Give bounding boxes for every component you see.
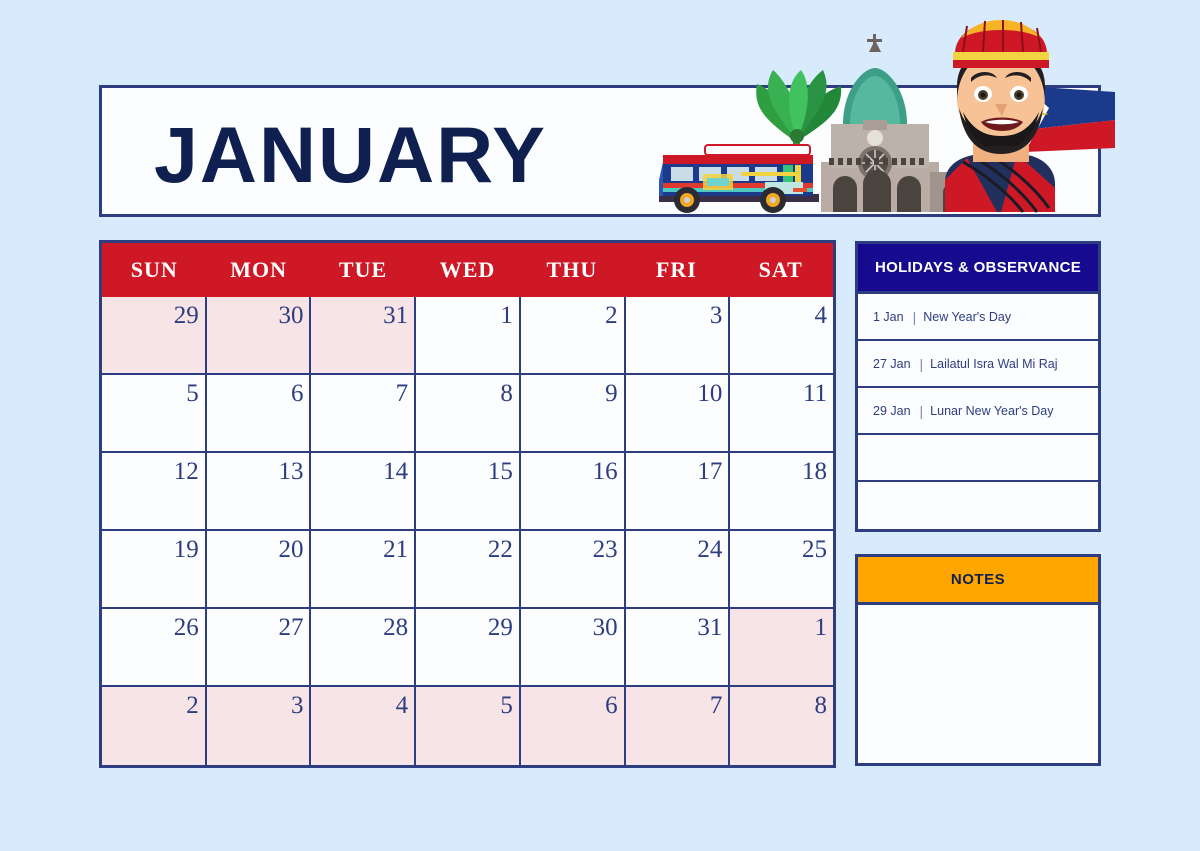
page-title: JANUARY [154,110,547,200]
notes-panel-header: NOTES [855,554,1101,605]
day-cell[interactable]: 16 [521,453,626,531]
day-cell[interactable]: 31 [626,609,731,687]
day-cell[interactable]: 18 [730,453,833,531]
day-number: 20 [278,535,303,565]
day-cell[interactable]: 23 [521,531,626,609]
day-cell[interactable]: 8 [730,687,833,765]
day-number: 15 [488,457,513,487]
day-number: 22 [488,535,513,565]
day-number: 24 [697,535,722,565]
day-number: 30 [278,301,303,331]
day-cell[interactable]: 15 [416,453,521,531]
day-cell[interactable]: 12 [102,453,207,531]
day-number: 7 [396,379,409,409]
day-cell[interactable]: 2 [521,297,626,375]
holiday-row-empty[interactable]: | [858,435,1098,482]
day-cell[interactable]: 7 [311,375,416,453]
day-number: 19 [174,535,199,565]
calendar-week-row: 2345678 [102,687,833,765]
day-cell[interactable]: 14 [311,453,416,531]
day-number: 29 [174,301,199,331]
calendar-week-row: 2930311234 [102,297,833,375]
weekday-tue: TUE [311,243,415,297]
day-number: 11 [803,379,827,409]
day-cell[interactable]: 6 [207,375,312,453]
day-number: 1 [815,613,828,643]
calendar-week-row: 2627282930311 [102,609,833,687]
day-number: 26 [174,613,199,643]
day-number: 6 [605,691,618,721]
day-number: 2 [605,301,618,331]
calendar-week-row: 19202122232425 [102,531,833,609]
notes-input-area[interactable] [855,605,1101,766]
day-number: 4 [396,691,409,721]
weekday-wed: WED [415,243,519,297]
day-cell[interactable]: 26 [102,609,207,687]
day-number: 6 [291,379,304,409]
day-cell[interactable]: 1 [416,297,521,375]
day-number: 21 [383,535,408,565]
day-cell[interactable]: 24 [626,531,731,609]
day-cell[interactable]: 13 [207,453,312,531]
day-cell[interactable]: 6 [521,687,626,765]
weekday-fri: FRI [624,243,728,297]
holiday-row[interactable]: 1 Jan|New Year's Day [858,294,1098,341]
day-number: 23 [593,535,618,565]
day-number: 25 [802,535,827,565]
day-cell[interactable]: 10 [626,375,731,453]
day-cell[interactable]: 21 [311,531,416,609]
day-number: 28 [383,613,408,643]
day-number: 9 [605,379,618,409]
holiday-row[interactable]: 29 Jan|Lunar New Year's Day [858,388,1098,435]
day-number: 29 [488,613,513,643]
day-number: 31 [697,613,722,643]
day-number: 10 [697,379,722,409]
day-cell[interactable]: 17 [626,453,731,531]
day-cell[interactable]: 25 [730,531,833,609]
holiday-separator: | [920,403,924,419]
day-cell[interactable]: 3 [626,297,731,375]
day-number: 12 [174,457,199,487]
holidays-panel: HOLIDAYS & OBSERVANCE 1 Jan|New Year's D… [855,241,1101,532]
day-cell[interactable]: 4 [730,297,833,375]
calendar-week-row: 12131415161718 [102,453,833,531]
holiday-name: New Year's Day [923,310,1011,324]
day-number: 3 [710,301,723,331]
holiday-row-empty[interactable]: | [858,482,1098,529]
day-cell[interactable]: 2 [102,687,207,765]
holiday-separator: | [913,309,917,325]
holiday-name: Lunar New Year's Day [930,404,1053,418]
weekday-sat: SAT [729,243,833,297]
day-cell[interactable]: 3 [207,687,312,765]
day-number: 3 [291,691,304,721]
weekday-thu: THU [520,243,624,297]
holiday-row[interactable]: 27 Jan|Lailatul Isra Wal Mi Raj [858,341,1098,388]
day-cell[interactable]: 29 [416,609,521,687]
day-cell[interactable]: 5 [102,375,207,453]
day-number: 18 [802,457,827,487]
day-number: 31 [383,301,408,331]
day-cell[interactable]: 8 [416,375,521,453]
holidays-panel-header: HOLIDAYS & OBSERVANCE [855,241,1101,294]
day-cell[interactable]: 4 [311,687,416,765]
day-cell[interactable]: 31 [311,297,416,375]
holiday-date: 29 Jan [873,404,911,418]
calendar-week-row: 567891011 [102,375,833,453]
day-cell[interactable]: 1 [730,609,833,687]
day-number: 2 [186,691,199,721]
day-cell[interactable]: 7 [626,687,731,765]
day-number: 27 [278,613,303,643]
day-cell[interactable]: 30 [521,609,626,687]
holidays-list: 1 Jan|New Year's Day27 Jan|Lailatul Isra… [855,294,1101,532]
day-cell[interactable]: 19 [102,531,207,609]
day-number: 16 [593,457,618,487]
day-number: 1 [500,301,513,331]
day-cell[interactable]: 11 [730,375,833,453]
holiday-date: 1 Jan [873,310,904,324]
day-cell[interactable]: 30 [207,297,312,375]
holiday-name: Lailatul Isra Wal Mi Raj [930,357,1057,371]
day-number: 4 [815,301,828,331]
day-number: 17 [697,457,722,487]
day-number: 7 [710,691,723,721]
month-title-bar: JANUARY [99,85,1101,217]
calendar-weeks: 2930311234567891011121314151617181920212… [102,297,833,765]
day-cell[interactable]: 29 [102,297,207,375]
day-cell[interactable]: 20 [207,531,312,609]
day-cell[interactable]: 22 [416,531,521,609]
day-number: 30 [593,613,618,643]
day-cell[interactable]: 9 [521,375,626,453]
day-number: 8 [815,691,828,721]
day-cell[interactable]: 5 [416,687,521,765]
weekday-sun: SUN [102,243,206,297]
day-cell[interactable]: 27 [207,609,312,687]
day-number: 5 [186,379,199,409]
weekday-mon: MON [206,243,310,297]
holiday-separator: | [920,356,924,372]
weekday-header-row: SUNMONTUEWEDTHUFRISAT [102,243,833,297]
day-number: 13 [278,457,303,487]
day-cell[interactable]: 28 [311,609,416,687]
calendar-grid: SUNMONTUEWEDTHUFRISAT 293031123456789101… [99,240,836,768]
day-number: 5 [500,691,513,721]
notes-panel: NOTES [855,554,1101,766]
day-number: 8 [500,379,513,409]
holiday-date: 27 Jan [873,357,911,371]
day-number: 14 [383,457,408,487]
